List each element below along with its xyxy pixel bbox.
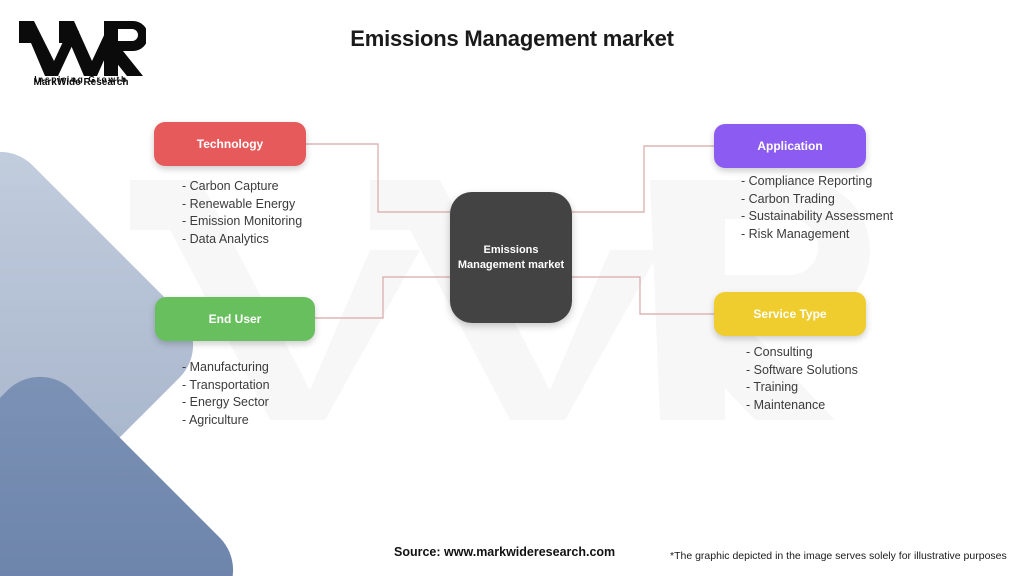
connector-end-user [315, 277, 450, 318]
decorative-shape-light [0, 133, 212, 557]
list-item: - Carbon Capture [182, 178, 302, 196]
center-node-label-line1: Emissions [483, 244, 538, 256]
list-item: - Software Solutions [746, 362, 858, 380]
connector-application [572, 146, 714, 212]
list-item: - Maintenance [746, 397, 858, 415]
list-item: - Renewable Energy [182, 196, 302, 214]
list-item: - Carbon Trading [741, 191, 893, 209]
list-item: - Compliance Reporting [741, 173, 893, 191]
source-text: Source: www.markwideresearch.com [394, 545, 615, 559]
branch-label-end-user: End User [209, 312, 262, 326]
disclaimer-text: *The graphic depicted in the image serve… [670, 550, 1007, 562]
branch-items-end-user: - Manufacturing - Transportation - Energ… [182, 359, 270, 429]
list-item: - Data Analytics [182, 231, 302, 249]
branch-pill-application[interactable]: Application [714, 124, 866, 168]
branch-pill-end-user[interactable]: End User [155, 297, 315, 341]
branch-pill-service-type[interactable]: Service Type [714, 292, 866, 336]
list-item: - Training [746, 379, 858, 397]
list-item: - Sustainability Assessment [741, 208, 893, 226]
connector-technology [306, 144, 450, 212]
list-item: - Transportation [182, 377, 270, 395]
logo-tagline: Inspiring Growth [16, 74, 146, 84]
branch-items-technology: - Carbon Capture - Renewable Energy - Em… [182, 178, 302, 248]
list-item: - Emission Monitoring [182, 213, 302, 231]
branch-label-technology: Technology [197, 137, 263, 151]
list-item: - Manufacturing [182, 359, 270, 377]
center-node[interactable]: Emissions Management market [450, 192, 572, 323]
branch-items-service-type: - Consulting - Software Solutions - Trai… [746, 344, 858, 414]
slide-canvas: MarkWide Research Inspiring Growth Emiss… [0, 0, 1024, 576]
branch-items-application: - Compliance Reporting - Carbon Trading … [741, 173, 893, 243]
connector-service-type [572, 277, 714, 314]
branch-pill-technology[interactable]: Technology [154, 122, 306, 166]
list-item: - Agriculture [182, 412, 270, 430]
list-item: - Consulting [746, 344, 858, 362]
branch-label-service-type: Service Type [753, 307, 826, 321]
center-node-label-line2: Management market [458, 259, 564, 271]
list-item: - Risk Management [741, 226, 893, 244]
list-item: - Energy Sector [182, 394, 270, 412]
page-title: Emissions Management market [0, 26, 1024, 52]
branch-label-application: Application [757, 139, 822, 153]
